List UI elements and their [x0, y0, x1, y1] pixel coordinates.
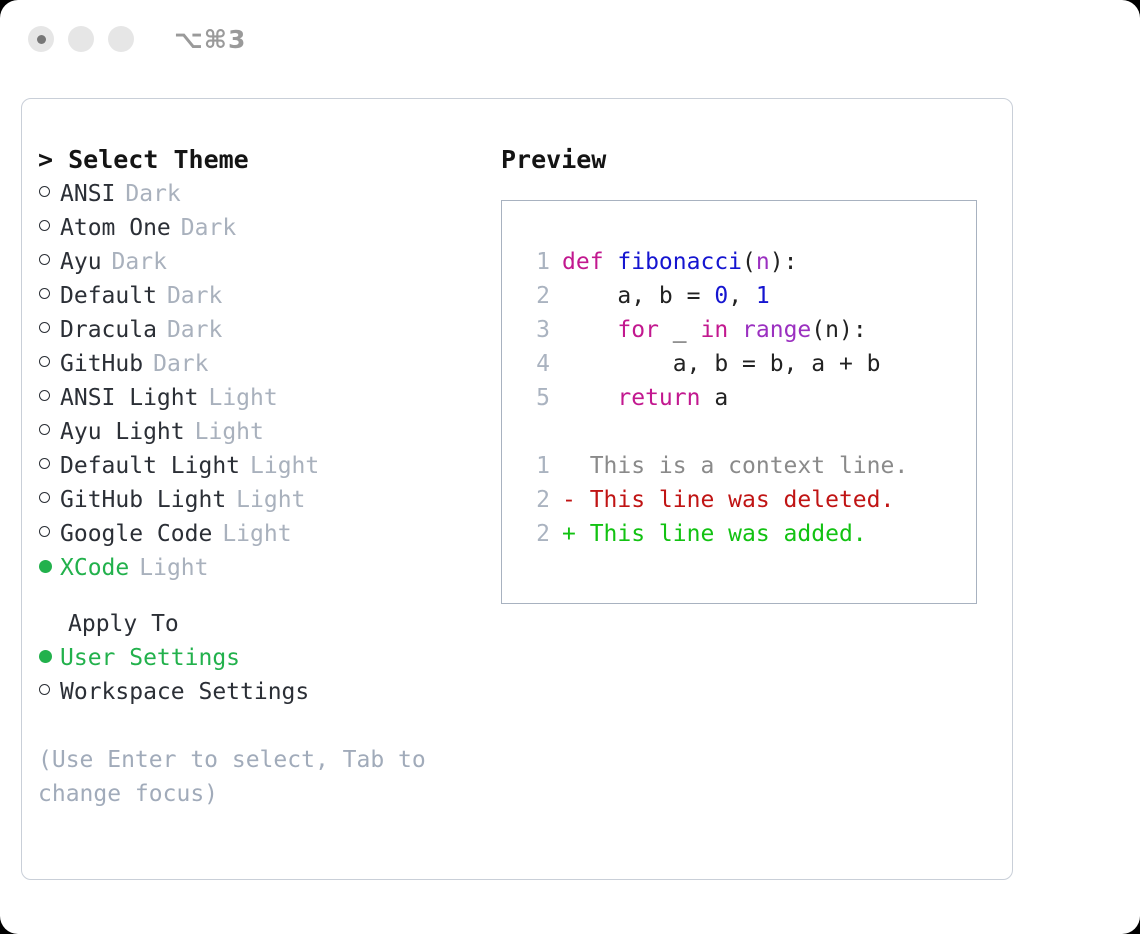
window-control-close[interactable] [28, 26, 54, 52]
code-token: a, b = [562, 283, 714, 309]
filled-circle-icon [39, 650, 52, 663]
hollow-circle-icon [39, 458, 50, 469]
window-control-maximize[interactable] [108, 26, 134, 52]
theme-list-item[interactable]: DraculaDark [38, 313, 468, 347]
theme-category-badge: Light [236, 483, 305, 517]
hollow-circle-icon [39, 526, 50, 537]
code-token: ): [770, 249, 798, 275]
theme-selection-column: > Select Theme ANSIDarkAtom OneDarkAyuDa… [38, 143, 468, 811]
code-text: a, b = 0, 1 [562, 279, 770, 313]
diff-text: - This line was deleted. [562, 483, 894, 517]
theme-name: Ayu Light [60, 415, 185, 449]
theme-list-item[interactable]: Default LightLight [38, 449, 468, 483]
theme-list-item[interactable]: Google CodeLight [38, 517, 468, 551]
spacer [524, 415, 976, 449]
code-token: in [700, 317, 728, 343]
theme-category-badge: Dark [153, 347, 208, 381]
theme-list: ANSIDarkAtom OneDarkAyuDarkDefaultDarkDr… [38, 177, 468, 585]
line-number: 4 [524, 347, 550, 381]
hollow-circle-icon [39, 322, 50, 333]
code-token [728, 317, 742, 343]
code-token: , [728, 283, 756, 309]
line-number: 2 [524, 517, 550, 551]
title-bar: ⌥⌘3 [0, 0, 1140, 78]
theme-name: XCode [60, 551, 129, 585]
hollow-circle-icon [39, 390, 50, 401]
theme-category-badge: Light [222, 517, 291, 551]
hollow-circle-icon [39, 220, 50, 231]
code-token: a, b = b, a + b [562, 351, 881, 377]
theme-category-badge: Light [250, 449, 319, 483]
code-token: (n): [811, 317, 866, 343]
theme-list-item[interactable]: GitHubDark [38, 347, 468, 381]
theme-name: Default [60, 279, 157, 313]
theme-category-badge: Dark [167, 279, 222, 313]
theme-name: ANSI Light [60, 381, 198, 415]
code-token [562, 317, 617, 343]
app-window: ⌥⌘3 > Select Theme ANSIDarkAtom OneDarkA… [0, 0, 1140, 934]
code-token: return [617, 385, 700, 411]
code-sample: 1def fibonacci(n):2 a, b = 0, 13 for _ i… [524, 245, 976, 415]
theme-name: Atom One [60, 211, 171, 245]
code-text: return a [562, 381, 728, 415]
select-theme-heading: > Select Theme [38, 143, 468, 177]
theme-list-item[interactable]: XCodeLight [38, 551, 468, 585]
code-text: def fibonacci(n): [562, 245, 797, 279]
code-token: n [756, 249, 770, 275]
apply-to-heading: Apply To [38, 607, 468, 641]
theme-list-item[interactable]: Atom OneDark [38, 211, 468, 245]
theme-category-badge: Dark [181, 211, 236, 245]
diff-line: 1 This is a context line. [524, 449, 976, 483]
theme-name: GitHub Light [60, 483, 226, 517]
theme-name: Default Light [60, 449, 240, 483]
preview-box: 1def fibonacci(n):2 a, b = 0, 13 for _ i… [501, 200, 977, 604]
theme-name: Ayu [60, 245, 102, 279]
hollow-circle-icon [39, 356, 50, 367]
theme-name: Google Code [60, 517, 212, 551]
line-number: 2 [524, 279, 550, 313]
diff-text: This is a context line. [562, 449, 908, 483]
spacer [38, 585, 468, 607]
code-line: 2 a, b = 0, 1 [524, 279, 976, 313]
keyboard-shortcut-label: ⌥⌘3 [174, 25, 246, 54]
code-token [562, 385, 617, 411]
line-number: 1 [524, 449, 550, 483]
apply-to-label: User Settings [60, 641, 240, 675]
code-line: 4 a, b = b, a + b [524, 347, 976, 381]
theme-list-item[interactable]: ANSI LightLight [38, 381, 468, 415]
code-token: a [700, 385, 728, 411]
diff-sample: 1 This is a context line.2- This line wa… [524, 449, 976, 551]
preview-column: Preview 1def fibonacci(n):2 a, b = 0, 13… [501, 143, 991, 604]
theme-list-item[interactable]: GitHub LightLight [38, 483, 468, 517]
code-token: ( [742, 249, 756, 275]
diff-text: + This line was added. [562, 517, 867, 551]
filled-circle-icon [39, 560, 52, 573]
code-line: 3 for _ in range(n): [524, 313, 976, 347]
theme-category-badge: Dark [125, 177, 180, 211]
theme-list-item[interactable]: ANSIDark [38, 177, 468, 211]
line-number: 2 [524, 483, 550, 517]
theme-category-badge: Dark [167, 313, 222, 347]
window-control-minimize[interactable] [68, 26, 94, 52]
line-number: 5 [524, 381, 550, 415]
code-token: range [742, 317, 811, 343]
hollow-circle-icon [39, 492, 50, 503]
hollow-circle-icon [39, 288, 50, 299]
theme-category-badge: Light [195, 415, 264, 449]
hollow-circle-icon [39, 424, 50, 435]
code-text: a, b = b, a + b [562, 347, 881, 381]
hollow-circle-icon [39, 684, 50, 695]
theme-category-badge: Light [208, 381, 277, 415]
line-number: 3 [524, 313, 550, 347]
spacer [38, 709, 468, 743]
code-line: 1def fibonacci(n): [524, 245, 976, 279]
code-token: 0 [714, 283, 728, 309]
theme-name: ANSI [60, 177, 115, 211]
code-text: for _ in range(n): [562, 313, 867, 347]
theme-name: Dracula [60, 313, 157, 347]
hollow-circle-icon [39, 186, 50, 197]
theme-list-item[interactable]: AyuDark [38, 245, 468, 279]
diff-line: 2- This line was deleted. [524, 483, 976, 517]
apply-to-item[interactable]: Workspace Settings [38, 675, 468, 709]
code-line: 5 return a [524, 381, 976, 415]
diff-line: 2+ This line was added. [524, 517, 976, 551]
theme-name: GitHub [60, 347, 143, 381]
theme-list-item[interactable]: Ayu LightLight [38, 415, 468, 449]
preview-heading: Preview [501, 143, 991, 177]
hollow-circle-icon [39, 254, 50, 265]
apply-to-list: User SettingsWorkspace Settings [38, 641, 468, 709]
code-token: def [562, 249, 617, 275]
theme-category-badge: Light [139, 551, 208, 585]
theme-list-item[interactable]: DefaultDark [38, 279, 468, 313]
line-number: 1 [524, 245, 550, 279]
keyboard-hint-text: (Use Enter to select, Tab to change focu… [38, 743, 453, 811]
active-dot-icon [37, 35, 46, 44]
code-token: for [617, 317, 659, 343]
apply-to-item[interactable]: User Settings [38, 641, 468, 675]
theme-category-badge: Dark [112, 245, 167, 279]
apply-to-label: Workspace Settings [60, 675, 309, 709]
code-token: fibonacci [617, 249, 742, 275]
code-token: 1 [756, 283, 770, 309]
main-panel: > Select Theme ANSIDarkAtom OneDarkAyuDa… [21, 98, 1013, 880]
code-token: _ [659, 317, 701, 343]
